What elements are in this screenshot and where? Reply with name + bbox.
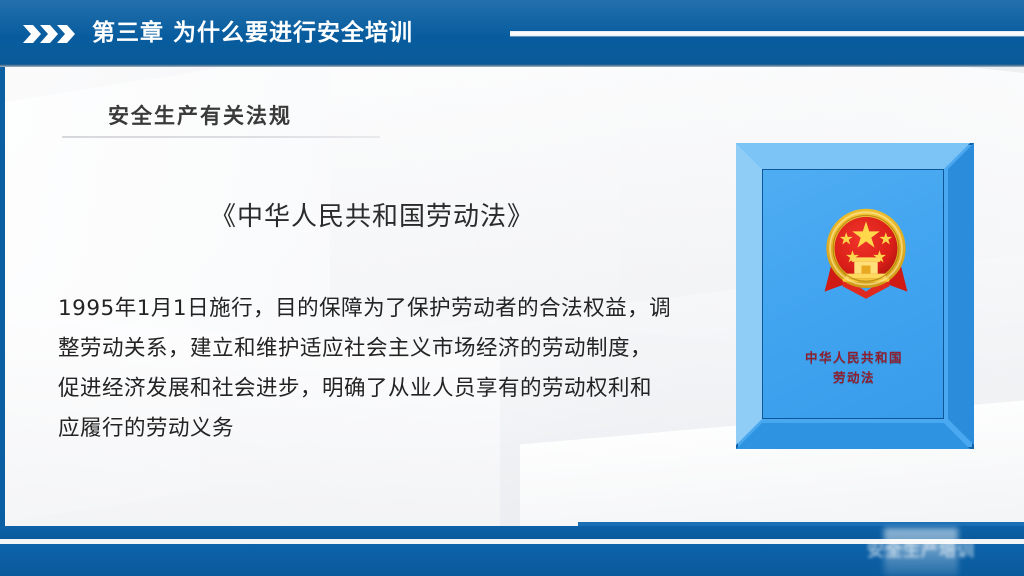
book-bevel-left [736,143,762,445]
left-accent-strip [0,67,5,576]
paragraph-line: 应履行的劳动义务 [58,409,698,449]
book-title-text: 中华人民共和国 劳动法 [763,348,945,388]
subtitle-underline [62,136,380,138]
header-band: 第三章 为什么要进行安全培训 [0,0,1024,67]
body-paragraph: 1995年1月1日施行，目的保障为了保护劳动者的合法权益，调 整劳动关系，建立和… [58,289,698,449]
law-title: 《中华人民共和国劳动法》 [210,196,534,233]
page-title: 第三章 为什么要进行安全培训 [92,18,413,48]
header-divider-line [510,31,1024,36]
slide: 第三章 为什么要进行安全培训 安全生产有关法规 《中华人民共和国劳动法》 199… [0,0,1024,576]
book-bevel-bottom [736,423,970,449]
labor-law-book-image: 中华人民共和国 劳动法 [736,143,974,449]
book-cover-face: 中华人民共和国 劳动法 [762,169,944,419]
paragraph-line: 1995年1月1日施行，目的保障为了保护劳动者的合法权益，调 [58,289,698,329]
section-subtitle: 安全生产有关法规 [108,100,292,130]
book-title-line-2: 劳动法 [763,368,945,388]
triple-chevron-right-icon [22,23,78,45]
paragraph-line: 整劳动关系，建立和维护适应社会主义市场经济的劳动制度， [58,329,698,369]
footer-watermark: 安全生产培训 [828,534,1014,568]
paragraph-line: 促进经济发展和社会进步，明确了从业人员享有的劳动权利和 [58,369,698,409]
header-bottom-edge [0,64,1024,67]
national-emblem-china-icon [812,198,920,306]
book-bevel-right [948,143,974,445]
book-bevel-top [736,143,970,169]
book-title-line-1: 中华人民共和国 [763,348,945,368]
